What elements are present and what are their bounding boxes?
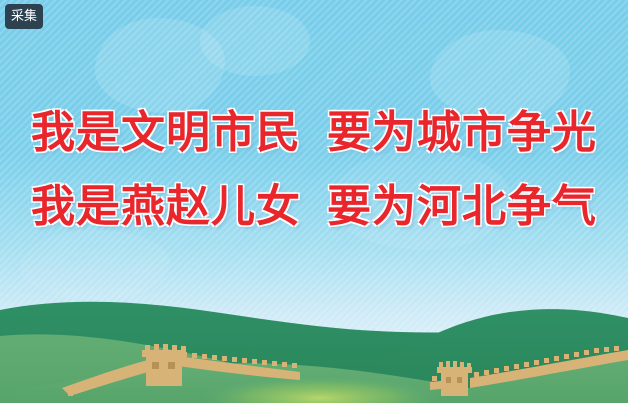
capture-button[interactable]: 采集	[5, 4, 43, 29]
watchtower-left-window	[152, 362, 159, 369]
watchtower-right-window	[457, 377, 462, 383]
watchtower-left-roof	[142, 350, 186, 357]
headline-line-1-left: 我是文明市民	[31, 107, 301, 158]
headline-line-2-right: 要为河北争气	[327, 181, 597, 232]
headline-line-1-right: 要为城市争光	[327, 107, 597, 158]
poster-image: 我是文明市民要为城市争光 我是燕赵儿女要为河北争气 采集	[0, 0, 628, 403]
watchtower-right-window	[446, 377, 451, 383]
headline-block: 我是文明市民要为城市争光 我是燕赵儿女要为河北争气	[0, 96, 628, 244]
watchtower-left-window	[168, 362, 175, 369]
watchtower-left-base	[146, 356, 182, 386]
headline-line-2: 我是燕赵儿女要为河北争气	[0, 170, 628, 244]
headline-line-1: 我是文明市民要为城市争光	[0, 96, 628, 170]
headline-line-2-left: 我是燕赵儿女	[31, 181, 301, 232]
watchtower-right-base	[441, 372, 468, 396]
